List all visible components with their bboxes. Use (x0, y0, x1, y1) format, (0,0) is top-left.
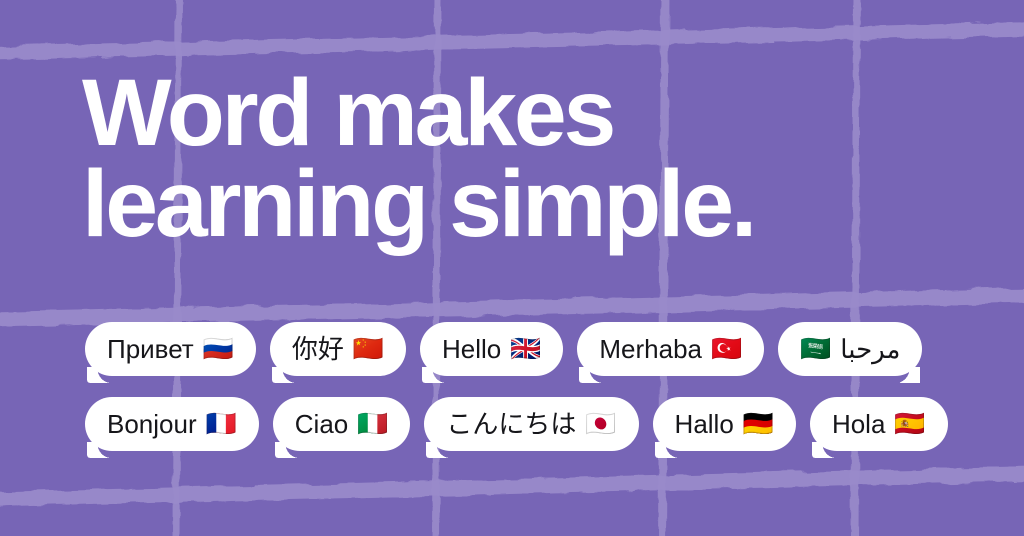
greeting-text: Bonjour (107, 411, 197, 437)
greeting-bubble-german[interactable]: Hallo🇩🇪 (653, 397, 796, 451)
greeting-bubble-english[interactable]: Hello🇬🇧 (420, 322, 563, 376)
greeting-bubble-italian[interactable]: Ciao🇮🇹 (273, 397, 411, 451)
flag-spain-icon: 🇪🇸 (894, 412, 925, 437)
promo-banner: { "banner": { "background_color": "#7765… (0, 0, 1024, 536)
headline-line-1: Word makes (82, 68, 942, 159)
greeting-bubble-turkish[interactable]: Merhaba🇹🇷 (577, 322, 764, 376)
headline-line-2: learning simple. (82, 159, 942, 250)
greeting-bubble-row: Bonjour🇫🇷Ciao🇮🇹こんにちは🇯🇵Hallo🇩🇪Hola🇪🇸 (0, 397, 1024, 472)
flag-china-icon: 🇨🇳 (353, 337, 384, 362)
greeting-text: Hallo (675, 411, 734, 437)
greeting-bubble-group: Привет🇷🇺你好🇨🇳Hello🇬🇧Merhaba🇹🇷مرحبا🇸🇦Bonjo… (0, 322, 1024, 472)
greeting-bubble-chinese[interactable]: 你好🇨🇳 (270, 322, 406, 376)
greeting-text: Ciao (295, 411, 348, 437)
flag-saudi-arabia-icon: 🇸🇦 (800, 337, 831, 362)
greeting-bubble-row: Привет🇷🇺你好🇨🇳Hello🇬🇧Merhaba🇹🇷مرحبا🇸🇦 (0, 322, 1024, 397)
greeting-bubble-spanish[interactable]: Hola🇪🇸 (810, 397, 948, 451)
greeting-bubble-russian[interactable]: Привет🇷🇺 (85, 322, 256, 376)
flag-russia-icon: 🇷🇺 (203, 337, 234, 362)
greeting-text: Merhaba (599, 336, 702, 362)
flag-turkey-icon: 🇹🇷 (711, 337, 742, 362)
greeting-bubble-arabic[interactable]: مرحبا🇸🇦 (778, 322, 922, 376)
page-title: Word makes learning simple. (82, 68, 942, 250)
greeting-text: Hola (832, 411, 885, 437)
greeting-text: 你好 (292, 336, 344, 362)
greeting-text: مرحبا (840, 336, 900, 362)
flag-germany-icon: 🇩🇪 (743, 412, 774, 437)
greeting-bubble-french[interactable]: Bonjour🇫🇷 (85, 397, 259, 451)
greeting-bubble-japanese[interactable]: こんにちは🇯🇵 (424, 397, 638, 451)
greeting-text: Привет (107, 336, 194, 362)
greeting-text: こんにちは (446, 411, 576, 437)
greeting-text: Hello (442, 336, 501, 362)
flag-italy-icon: 🇮🇹 (357, 412, 388, 437)
flag-united-kingdom-icon: 🇬🇧 (510, 337, 541, 362)
flag-france-icon: 🇫🇷 (206, 412, 237, 437)
flag-japan-icon: 🇯🇵 (585, 412, 616, 437)
